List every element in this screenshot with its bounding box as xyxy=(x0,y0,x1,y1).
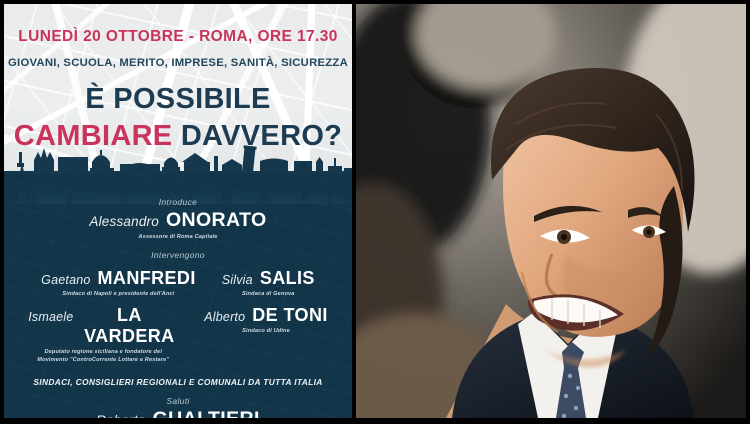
participants-banner-line: SINDACI, CONSIGLIERI REGIONALI E COMUNAL… xyxy=(4,377,352,387)
speaker-onorato: Alessandro ONORATO Assessore di Roma Cap… xyxy=(4,209,352,241)
speaker-last-name: MANFREDI xyxy=(98,268,196,289)
speaker-role-subtitle: Assessore di Roma Capitale xyxy=(4,233,352,241)
speaker-pair-row-2: Ismaele LA VARDERA Deputato regione sici… xyxy=(4,305,352,364)
speaker-de-toni: Alberto DE TONI Sindaco di Udine xyxy=(204,305,328,364)
speaker-name-row: Alessandro ONORATO xyxy=(4,209,352,232)
speaker-last-name: DE TONI xyxy=(252,305,327,326)
speaker-first-name: Ismaele xyxy=(28,310,73,324)
speaker-role-subtitle: Deputato regione siciliana e fondatore d… xyxy=(28,348,178,364)
speaker-role-subtitle: Sindaca di Genova xyxy=(222,290,315,298)
speaker-pair-row-1: Gaetano MANFREDI Sindaco di Napoli e pre… xyxy=(4,268,352,298)
speaker-manfredi: Gaetano MANFREDI Sindaco di Napoli e pre… xyxy=(41,268,196,298)
speaker-first-name: Alessandro xyxy=(89,214,159,229)
speaker-first-name: Gaetano xyxy=(41,273,90,287)
speaker-gualtieri: Roberto GUALTIERI Sindaco di Roma Capita… xyxy=(4,408,352,418)
speaker-la-vardera: Ismaele LA VARDERA Deputato regione sici… xyxy=(28,305,178,364)
speaker-name-row: Silvia SALIS xyxy=(222,268,315,289)
speakers-section: Introduce Alessandro ONORATO Assessore d… xyxy=(4,197,352,418)
image-canvas: LUNEDÌ 20 OTTOBRE - ROMA, ORE 17.30 GIOV… xyxy=(0,0,750,424)
speaker-last-name: SALIS xyxy=(260,268,315,289)
italy-skyline-illustration xyxy=(4,142,352,204)
speaker-role-subtitle: Sindaco di Napoli e presidente dell'Anci xyxy=(41,290,196,298)
role-label-intervengono: Intervengono xyxy=(4,250,352,260)
speaker-last-name: LA VARDERA xyxy=(80,305,178,347)
role-label-introduce: Introduce xyxy=(4,197,352,207)
portrait-photo xyxy=(356,4,746,418)
saluti-section: Saluti Roberto GUALTIERI Sindaco di Roma… xyxy=(4,396,352,418)
speaker-salis: Silvia SALIS Sindaca di Genova xyxy=(222,268,315,298)
event-date-line: LUNEDÌ 20 OTTOBRE - ROMA, ORE 17.30 xyxy=(4,28,352,46)
headline-line-1: È POSSIBILE xyxy=(4,82,352,116)
event-topics-line: GIOVANI, SCUOLA, MERITO, IMPRESE, SANITÀ… xyxy=(4,57,352,69)
speaker-name-row: Alberto DE TONI xyxy=(204,305,328,326)
role-label-saluti: Saluti xyxy=(4,396,352,406)
speaker-first-name: Alberto xyxy=(204,310,245,324)
event-poster: LUNEDÌ 20 OTTOBRE - ROMA, ORE 17.30 GIOV… xyxy=(4,4,352,418)
speaker-first-name: Silvia xyxy=(222,273,253,287)
speaker-last-name: GUALTIERI xyxy=(153,408,260,418)
speaker-role-subtitle: Sindaco di Udine xyxy=(204,327,328,335)
speaker-last-name: ONORATO xyxy=(166,209,267,232)
speaker-name-row: Roberto GUALTIERI xyxy=(4,408,352,418)
speaker-name-row: Ismaele LA VARDERA xyxy=(28,305,178,347)
speaker-name-row: Gaetano MANFREDI xyxy=(41,268,196,289)
speaker-first-name: Roberto xyxy=(96,413,145,418)
